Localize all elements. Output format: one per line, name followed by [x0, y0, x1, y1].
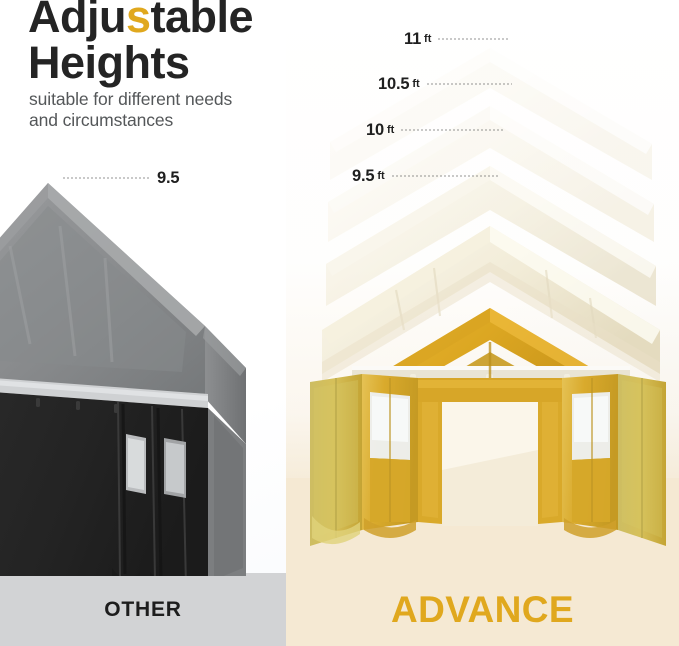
- callout-unit: ft: [412, 78, 419, 90]
- leader-line-icon: [400, 129, 504, 131]
- label-advance: ADVANCE: [286, 573, 679, 646]
- title-line1-part-a: Adju: [28, 0, 126, 42]
- callout-advance-11ft: 11 ft: [404, 29, 509, 49]
- page-title: Adjustable Heights: [28, 0, 253, 87]
- page-subtitle: suitable for different needs and circums…: [29, 89, 232, 132]
- callout-value: 9.5: [352, 167, 374, 186]
- callout-advance-9-5ft: 9.5 ft: [352, 166, 499, 186]
- callout-advance-10-5ft: 10.5 ft: [378, 74, 512, 94]
- callout-other-9-5: 9.5: [62, 168, 179, 188]
- leader-line-icon: [437, 38, 509, 40]
- advance-tent-image: [300, 30, 679, 550]
- label-other: OTHER: [0, 573, 286, 646]
- leader-line-icon: [391, 175, 499, 177]
- title-line1-part-b: table: [151, 0, 254, 42]
- callout-value: 9.5: [157, 169, 179, 188]
- title-line2: Heights: [28, 37, 190, 88]
- callout-value: 11: [404, 30, 421, 49]
- callout-unit: ft: [377, 170, 384, 182]
- product-comparison-infographic: Adjustable Heights suitable for differen…: [0, 0, 679, 646]
- callout-advance-10ft: 10 ft: [366, 120, 504, 140]
- callout-value: 10.5: [378, 75, 409, 94]
- title-highlight-letter: s: [126, 0, 151, 42]
- callout-unit: ft: [424, 33, 431, 45]
- callout-value: 10: [366, 121, 384, 140]
- leader-line-icon: [62, 177, 150, 179]
- other-tent-image: [0, 176, 252, 576]
- callout-unit: ft: [387, 124, 394, 136]
- leader-line-icon: [426, 83, 512, 85]
